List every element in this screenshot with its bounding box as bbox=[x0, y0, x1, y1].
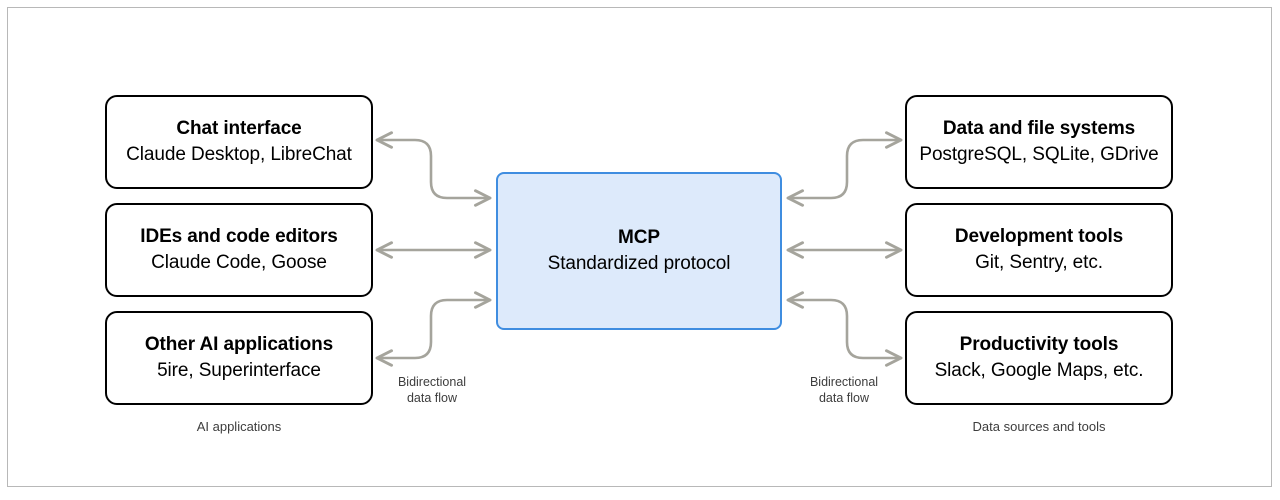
node-subtitle: Git, Sentry, etc. bbox=[975, 250, 1103, 276]
connector-otherai-to-mcp bbox=[377, 300, 490, 358]
node-data-and-file-systems[interactable]: Data and file systems PostgreSQL, SQLite… bbox=[905, 95, 1173, 189]
group-label-ai-applications: AI applications bbox=[105, 418, 373, 436]
node-title: Other AI applications bbox=[145, 332, 333, 358]
flow-label-left: Bidirectional data flow bbox=[381, 374, 483, 406]
connector-mcp-to-data bbox=[788, 140, 901, 198]
node-chat-interface[interactable]: Chat interface Claude Desktop, LibreChat bbox=[105, 95, 373, 189]
node-mcp[interactable]: MCP Standardized protocol bbox=[496, 172, 782, 330]
node-title: Data and file systems bbox=[943, 116, 1135, 142]
node-development-tools[interactable]: Development tools Git, Sentry, etc. bbox=[905, 203, 1173, 297]
node-title: Productivity tools bbox=[960, 332, 1119, 358]
connector-chat-to-mcp bbox=[377, 140, 490, 198]
node-ides-and-code-editors[interactable]: IDEs and code editors Claude Code, Goose bbox=[105, 203, 373, 297]
node-title: Development tools bbox=[955, 224, 1123, 250]
flow-label-right: Bidirectional data flow bbox=[793, 374, 895, 406]
node-productivity-tools[interactable]: Productivity tools Slack, Google Maps, e… bbox=[905, 311, 1173, 405]
node-subtitle: 5ire, Superinterface bbox=[157, 358, 321, 384]
node-title: IDEs and code editors bbox=[140, 224, 337, 250]
node-subtitle: Slack, Google Maps, etc. bbox=[935, 358, 1144, 384]
node-subtitle: Standardized protocol bbox=[548, 251, 731, 277]
node-subtitle: Claude Code, Goose bbox=[151, 250, 327, 276]
node-other-ai-applications[interactable]: Other AI applications 5ire, Superinterfa… bbox=[105, 311, 373, 405]
node-subtitle: Claude Desktop, LibreChat bbox=[126, 142, 352, 168]
node-title: MCP bbox=[618, 225, 660, 251]
group-label-data-sources-and-tools: Data sources and tools bbox=[905, 418, 1173, 436]
connector-mcp-to-prodtools bbox=[788, 300, 901, 358]
node-title: Chat interface bbox=[176, 116, 301, 142]
diagram-canvas: Chat interface Claude Desktop, LibreChat… bbox=[0, 0, 1280, 500]
node-subtitle: PostgreSQL, SQLite, GDrive bbox=[919, 142, 1158, 168]
